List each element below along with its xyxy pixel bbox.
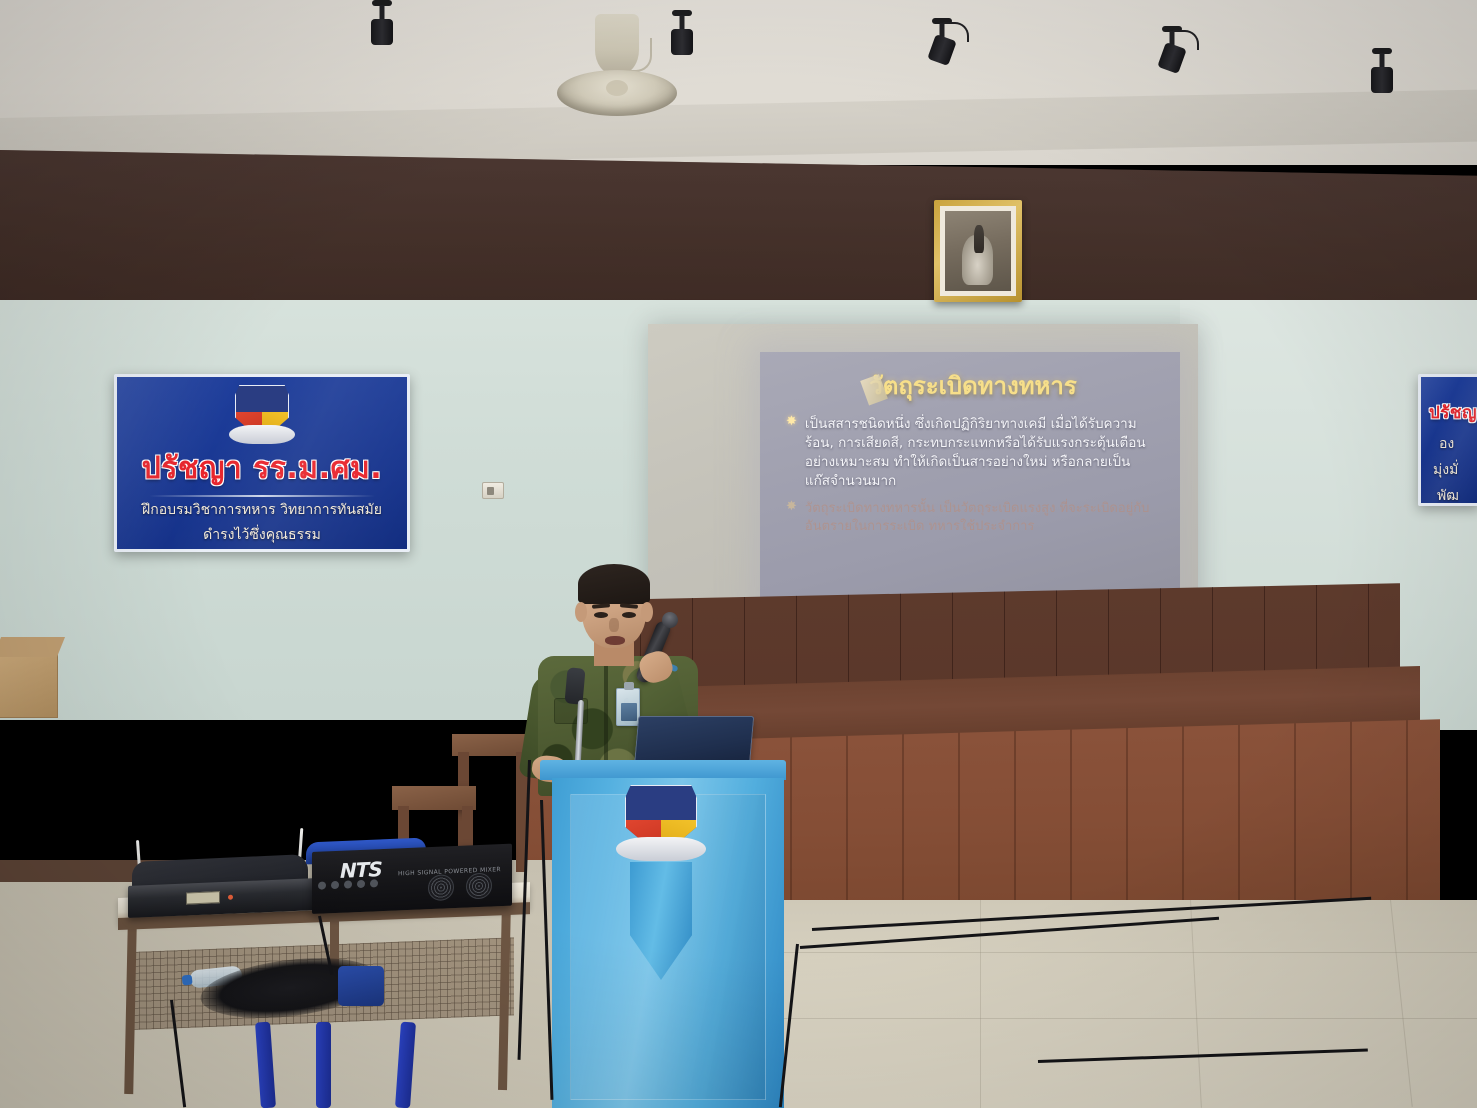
- light-can: [371, 19, 393, 45]
- podium-top: [540, 760, 786, 780]
- rider-figure: [974, 225, 984, 252]
- track-light-5: [1362, 48, 1402, 104]
- box-flap: [0, 637, 65, 657]
- mixer-knob-row[interactable]: [318, 879, 378, 890]
- crest-scroll: [616, 837, 705, 861]
- receiver-display: [186, 891, 220, 904]
- ceiling: [0, 0, 1477, 165]
- slide-title: วัตถุระเบิดทางทหาร: [786, 366, 1154, 405]
- bullet-marker-icon: ✸: [786, 415, 797, 492]
- crest-scroll: [229, 425, 296, 444]
- banner-left-subtitle-2: ดำรงไว้ซึ่งคุณธรรม: [203, 524, 321, 546]
- banner-left: ปรัชญา รร.ม.ศม. ฝึกอบรมวิชาการทหาร วิทยา…: [114, 374, 410, 552]
- photo-scene: ปรัชญา รร.ม.ศม. ฝึกอบรมวิชาการทหาร วิทยา…: [0, 0, 1477, 1108]
- banner-right-title: ปรัชญา: [1429, 399, 1477, 426]
- podium-crest: [625, 785, 697, 857]
- portrait-mat: [940, 206, 1016, 296]
- ear-left: [575, 602, 587, 622]
- receiver-led-icon: [228, 895, 233, 900]
- eye-right: [622, 612, 636, 618]
- slide-bullet-1-text: เป็นสสารชนิดหนึ่ง ซึ่งเกิดปฏิกิริยาทางเค…: [805, 415, 1154, 492]
- track-light-4: [1152, 26, 1192, 86]
- blue-stool-leg: [316, 1022, 331, 1108]
- gooseneck-mic-head-icon: [564, 667, 585, 704]
- portrait-image: [945, 211, 1011, 291]
- banner-left-title: ปรัชญา รร.ม.ศม.: [142, 445, 382, 492]
- framed-portrait: [934, 200, 1022, 302]
- blue-equipment-box: [338, 966, 384, 1006]
- slide-bullet-2: ✸ วัตถุระเบิดทางทหารนั้น เป็นวัตถุระเบิด…: [786, 500, 1154, 537]
- light-can: [1371, 67, 1393, 93]
- wall-outlet[interactable]: [482, 482, 504, 499]
- mixer-fan-grille-icon: [428, 874, 454, 901]
- cardboard-box: [0, 650, 58, 718]
- projected-slide: วัตถุระเบิดทางทหาร ✸ เป็นสสารชนิดหนึ่ง ซ…: [760, 352, 1180, 614]
- light-can: [671, 29, 693, 55]
- slide-bullet-1: ✸ เป็นสสารชนิดหนึ่ง ซึ่งเกิดปฏิกิริยาทาง…: [786, 415, 1154, 492]
- mixer-fan-grille-icon: [466, 872, 492, 899]
- badge-photo: [621, 703, 637, 721]
- bullet-marker-icon: ✸: [786, 500, 797, 537]
- track-light-1: [362, 0, 402, 54]
- banner-divider: [149, 495, 375, 497]
- school-crest: [235, 385, 289, 441]
- banner-left-subtitle-1: ฝึกอบรมวิชาการทหาร วิทยาการทันสมัย: [142, 499, 382, 521]
- banner-right-line-2: มุ่งมั่: [1433, 459, 1458, 481]
- track-light-2: [662, 10, 702, 64]
- nose: [609, 618, 619, 632]
- slide-bullet-2-text: วัตถุระเบิดทางทหารนั้น เป็นวัตถุระเบิดแร…: [805, 500, 1154, 537]
- mouth: [605, 636, 625, 645]
- fan-cord: [630, 38, 652, 72]
- eye-left: [594, 612, 608, 618]
- banner-right-line-1: อง: [1439, 433, 1454, 455]
- hair: [578, 564, 650, 604]
- banner-right: ปรัชญา อง มุ่งมั่ พัฒ: [1418, 374, 1477, 506]
- powered-mixer[interactable]: NTS HIGH SIGNAL POWERED MIXER: [312, 844, 512, 914]
- fan-hub: [606, 80, 628, 96]
- id-badge: [616, 688, 640, 726]
- banner-right-line-3: พัฒ: [1437, 485, 1459, 506]
- track-light-3: [922, 18, 962, 78]
- ear-right: [641, 602, 653, 622]
- slide-title-text: วัตถุระเบิดทางทหาร: [869, 372, 1076, 400]
